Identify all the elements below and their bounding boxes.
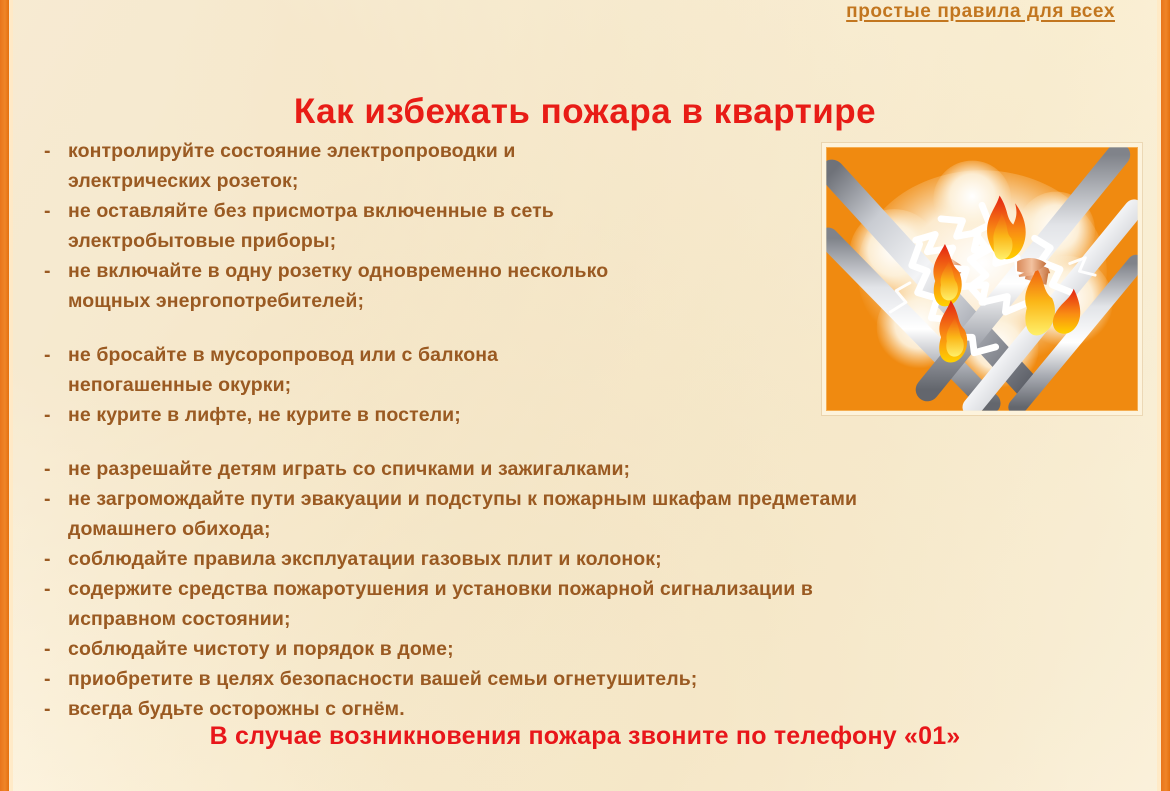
rule-line: непогашенные окурки; xyxy=(68,370,1140,400)
bullet-dash-icon: - xyxy=(44,136,51,166)
rule-line: содержите средства пожаротушения и устан… xyxy=(68,574,1140,604)
rules-group: -контролируйте состояние электропроводки… xyxy=(40,136,1140,316)
rule-item: -не курите в лифте, не курите в постели; xyxy=(40,400,1140,430)
rule-item: -не загромождайте пути эвакуации и подст… xyxy=(40,484,1140,544)
rule-line: не разрешайте детям играть со спичками и… xyxy=(68,454,1140,484)
page-title: Как избежать пожара в квартире xyxy=(0,92,1170,132)
bullet-dash-icon: - xyxy=(44,484,51,514)
rule-line: соблюдайте чистоту и порядок в доме; xyxy=(68,634,1140,664)
bullet-dash-icon: - xyxy=(44,694,51,724)
rule-item: -контролируйте состояние электропроводки… xyxy=(40,136,1140,196)
bullet-dash-icon: - xyxy=(44,664,51,694)
rule-line: электрических розеток; xyxy=(68,166,1140,196)
rule-line: соблюдайте правила эксплуатации газовых … xyxy=(68,544,1140,574)
bullet-dash-icon: - xyxy=(44,544,51,574)
rule-line: исправном состоянии; xyxy=(68,604,1140,634)
rule-line: контролируйте состояние электропроводки … xyxy=(68,136,1140,166)
rule-item: -не оставляйте без присмотра включенные … xyxy=(40,196,1140,256)
bullet-dash-icon: - xyxy=(44,256,51,286)
rule-line: мощных энергопотребителей; xyxy=(68,286,1140,316)
rule-item: -приобретите в целях безопасности вашей … xyxy=(40,664,1140,694)
rules-list: -контролируйте состояние электропроводки… xyxy=(40,136,1140,724)
bullet-dash-icon: - xyxy=(44,196,51,226)
rule-line: не включайте в одну розетку одновременно… xyxy=(68,256,1140,286)
rule-item: -всегда будьте осторожны с огнём. xyxy=(40,694,1140,724)
rule-item: -содержите средства пожаротушения и уста… xyxy=(40,574,1140,634)
bullet-dash-icon: - xyxy=(44,454,51,484)
rule-item: -не включайте в одну розетку одновременн… xyxy=(40,256,1140,316)
rule-item: -соблюдайте чистоту и порядок в доме; xyxy=(40,634,1140,664)
rule-item: -не разрешайте детям играть со спичками … xyxy=(40,454,1140,484)
rule-line: не бросайте в мусоропровод или с балкона xyxy=(68,340,1140,370)
poster-page: простые правила для всех Как избежать по… xyxy=(0,0,1170,791)
rule-item: -не бросайте в мусоропровод или с балкон… xyxy=(40,340,1140,400)
rules-group: -не разрешайте детям играть со спичками … xyxy=(40,454,1140,724)
bullet-dash-icon: - xyxy=(44,634,51,664)
emergency-call-note: В случае возникновения пожара звоните по… xyxy=(0,722,1170,751)
bullet-dash-icon: - xyxy=(44,574,51,604)
kicker-heading: простые правила для всех xyxy=(846,1,1115,23)
bullet-dash-icon: - xyxy=(44,340,51,370)
rule-item: -соблюдайте правила эксплуатации газовых… xyxy=(40,544,1140,574)
rule-line: приобретите в целях безопасности вашей с… xyxy=(68,664,1140,694)
rule-line: не курите в лифте, не курите в постели; xyxy=(68,400,1140,430)
rule-line: домашнего обихода; xyxy=(68,514,1140,544)
rules-group: -не бросайте в мусоропровод или с балкон… xyxy=(40,340,1140,430)
rule-line: электробытовые приборы; xyxy=(68,226,1140,256)
rule-line: всегда будьте осторожны с огнём. xyxy=(68,694,1140,724)
rule-line: не оставляйте без присмотра включенные в… xyxy=(68,196,1140,226)
rule-line: не загромождайте пути эвакуации и подсту… xyxy=(68,484,1140,514)
bullet-dash-icon: - xyxy=(44,400,51,430)
